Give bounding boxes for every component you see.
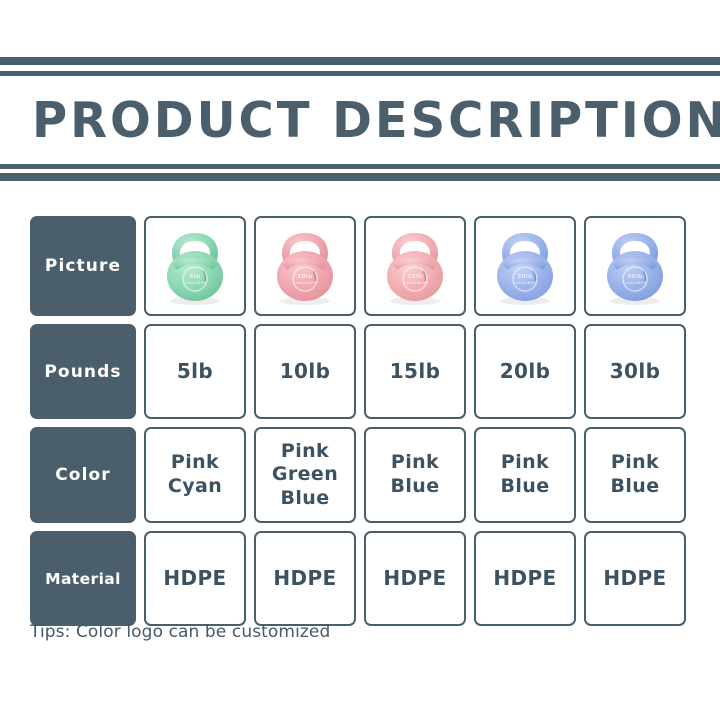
product-description-page: PRODUCT DESCRIPTION Picture: [0, 0, 720, 720]
row-header-picture: Picture: [30, 216, 136, 316]
color-cell-3: PinkBlue: [364, 427, 466, 523]
svg-text:KettleBell: KettleBell: [513, 281, 537, 285]
tips-note: Tips: Color logo can be customized: [30, 622, 330, 642]
material-cell-5: HDPE: [584, 531, 686, 626]
svg-text:KettleBell: KettleBell: [183, 281, 207, 285]
svg-text:15lb: 15lb: [407, 274, 422, 280]
row-header-color: Color: [30, 427, 136, 523]
picture-cell-1: 5lb KettleBell: [144, 216, 246, 316]
svg-text:KettleBell: KettleBell: [403, 281, 427, 285]
page-title: PRODUCT DESCRIPTION: [32, 96, 720, 145]
pounds-cell-5: 30lb: [584, 324, 686, 419]
header-rule-top-thick: [0, 57, 720, 65]
material-cell-4: HDPE: [474, 531, 576, 626]
pounds-cell-4: 20lb: [474, 324, 576, 419]
svg-text:30lb: 30lb: [627, 274, 642, 280]
picture-cell-3: 15lb KettleBell: [364, 216, 466, 316]
kettlebell-icon: 30lb KettleBell: [593, 225, 677, 307]
material-cell-1: HDPE: [144, 531, 246, 626]
kettlebell-icon: 20lb KettleBell: [483, 225, 567, 307]
kettlebell-icon: 5lb KettleBell: [153, 225, 237, 307]
kettlebell-icon: 15lb KettleBell: [373, 225, 457, 307]
table-row-pounds: Pounds 5lb 10lb 15lb 20lb 30lb: [30, 324, 686, 419]
row-header-material: Material: [30, 531, 136, 626]
product-spec-table: Picture: [30, 216, 686, 626]
svg-text:20lb: 20lb: [517, 274, 532, 280]
svg-text:KettleBell: KettleBell: [623, 281, 647, 285]
color-cell-4: PinkBlue: [474, 427, 576, 523]
page-title-container: PRODUCT DESCRIPTION: [0, 76, 720, 164]
color-cell-5: PinkBlue: [584, 427, 686, 523]
table-row-color: Color PinkCyan PinkGreenBlue PinkBlue Pi…: [30, 427, 686, 523]
pounds-cell-1: 5lb: [144, 324, 246, 419]
color-cell-1: PinkCyan: [144, 427, 246, 523]
color-cell-2: PinkGreenBlue: [254, 427, 356, 523]
picture-cell-5: 30lb KettleBell: [584, 216, 686, 316]
pounds-cell-3: 15lb: [364, 324, 466, 419]
material-cell-2: HDPE: [254, 531, 356, 626]
header-banner: PRODUCT DESCRIPTION: [0, 57, 720, 181]
row-header-pounds: Pounds: [30, 324, 136, 419]
picture-cell-4: 20lb KettleBell: [474, 216, 576, 316]
header-rule-bottom-thick: [0, 173, 720, 181]
svg-text:5lb: 5lb: [190, 274, 201, 280]
pounds-cell-2: 10lb: [254, 324, 356, 419]
picture-cell-2: 10lb KettleBell: [254, 216, 356, 316]
material-cell-3: HDPE: [364, 531, 466, 626]
svg-text:10lb: 10lb: [297, 274, 312, 280]
kettlebell-icon: 10lb KettleBell: [263, 225, 347, 307]
table-row-picture: Picture: [30, 216, 686, 316]
table-row-material: Material HDPE HDPE HDPE HDPE HDPE: [30, 531, 686, 626]
svg-text:KettleBell: KettleBell: [293, 281, 317, 285]
